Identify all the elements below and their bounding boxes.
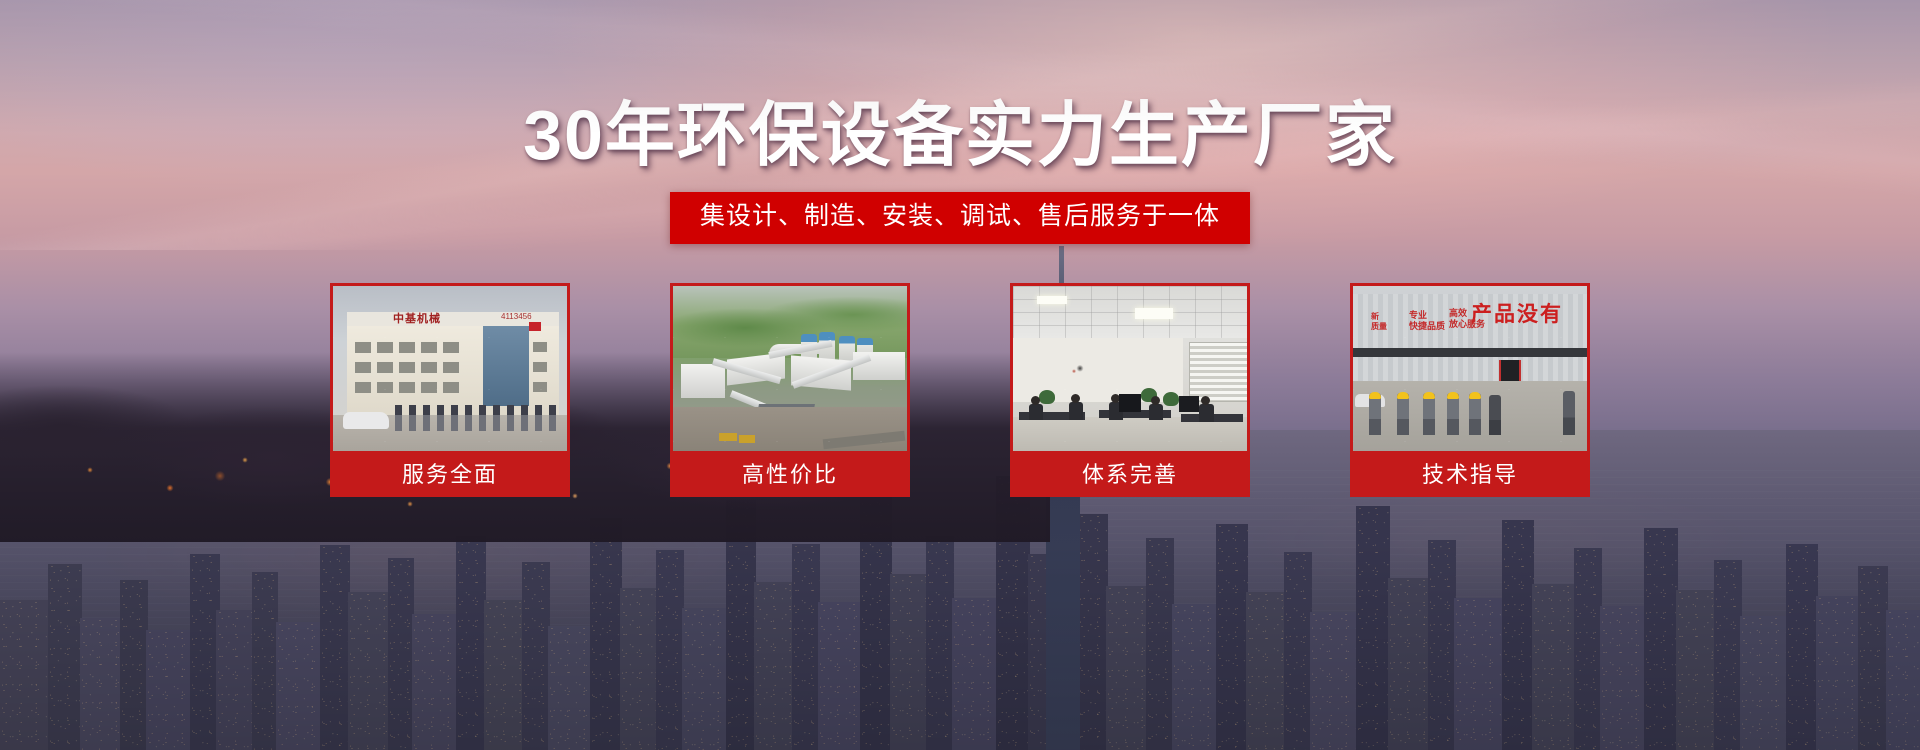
factory-wall-slogan-small-1: 新质量 — [1371, 312, 1387, 332]
feature-card-label: 服务全面 — [330, 451, 570, 497]
feature-card-label: 体系完善 — [1010, 451, 1250, 497]
office-workspace-photo — [1010, 283, 1250, 451]
factory-workers-training-photo: 产品没有 新质量 专业快捷品质 高效放心服务 — [1350, 283, 1590, 451]
hero-banner: 30年环保设备实力生产厂家 集设计、制造、安装、调试、售后服务于一体 中基机械 … — [0, 0, 1920, 750]
feature-card-label: 技术指导 — [1350, 451, 1590, 497]
banner-content: 30年环保设备实力生产厂家 集设计、制造、安装、调试、售后服务于一体 中基机械 … — [0, 0, 1920, 750]
feature-card-list: 中基机械 4113456 — [330, 283, 1590, 497]
building-sign-text: 中基机械 — [393, 310, 441, 326]
wall-decal — [1065, 352, 1095, 376]
factory-wall-slogan-small-3: 高效放心服务 — [1449, 308, 1485, 331]
subtitle-badge: 集设计、制造、安装、调试、售后服务于一体 — [670, 192, 1250, 244]
feature-card[interactable]: 产品没有 新质量 专业快捷品质 高效放心服务 — [1350, 283, 1590, 497]
feature-card[interactable]: 中基机械 4113456 — [330, 283, 570, 497]
feature-card[interactable]: 高性价比 — [670, 283, 910, 497]
company-headquarters-building-photo: 中基机械 4113456 — [330, 283, 570, 451]
feature-card[interactable]: 体系完善 — [1010, 283, 1250, 497]
factory-wall-slogan-small-2: 专业快捷品质 — [1409, 310, 1445, 333]
page-title: 30年环保设备实力生产厂家 — [0, 100, 1920, 170]
aerial-industrial-plant-photo — [670, 283, 910, 451]
building-sign-number: 4113456 — [501, 312, 532, 321]
feature-card-label: 高性价比 — [670, 451, 910, 497]
